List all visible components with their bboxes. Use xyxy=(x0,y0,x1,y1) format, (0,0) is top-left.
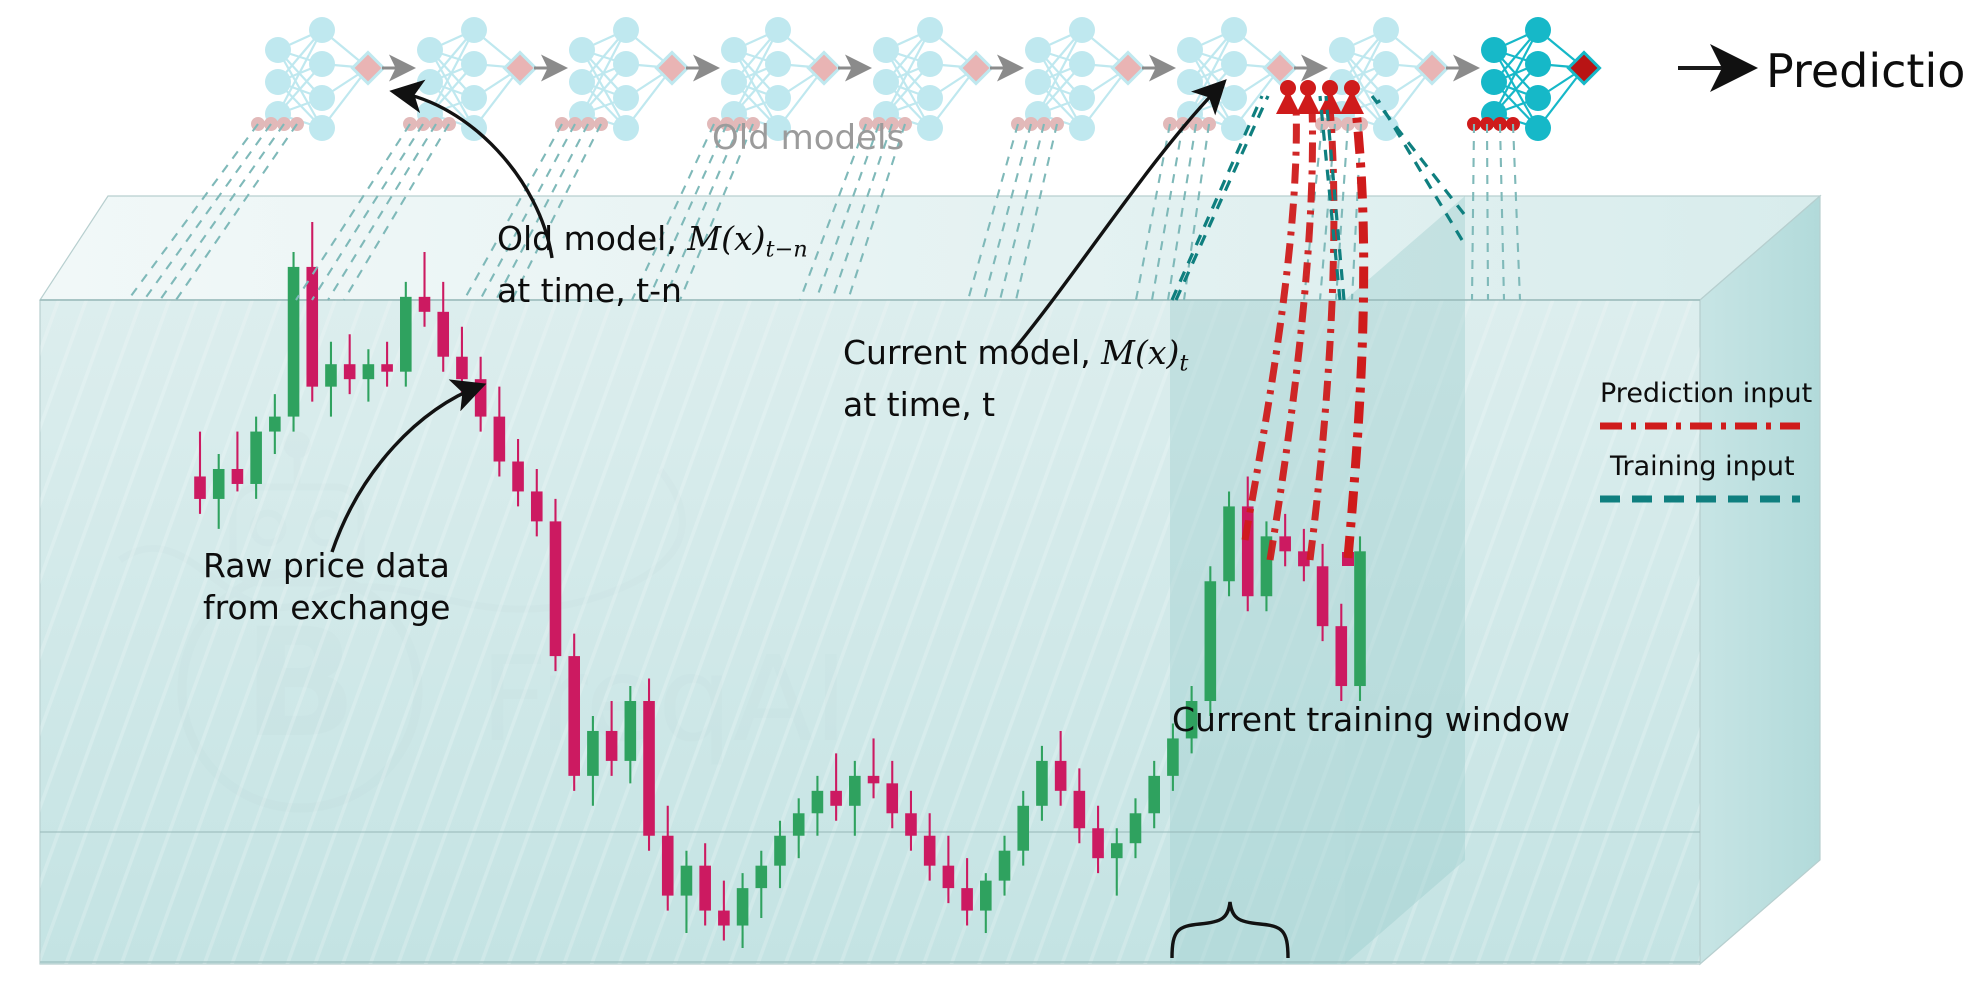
candle-body xyxy=(1036,761,1048,806)
network-node xyxy=(1373,85,1399,111)
candle-body xyxy=(1317,566,1329,626)
network-node xyxy=(873,37,899,63)
network-node xyxy=(873,69,899,95)
training-window-label: Current training window xyxy=(1172,700,1570,739)
network-output-node xyxy=(1416,52,1447,83)
network-output-node xyxy=(1568,52,1599,83)
candle-body xyxy=(269,417,281,432)
network-node xyxy=(1221,51,1247,77)
current-model-subscript: t xyxy=(1179,350,1188,376)
network-node xyxy=(1525,85,1551,111)
network-node xyxy=(1069,17,1095,43)
network-output-node xyxy=(960,52,991,83)
network-node xyxy=(309,51,335,77)
network-node xyxy=(461,85,487,111)
candle-body xyxy=(718,911,730,926)
candle-body xyxy=(456,357,468,379)
candle-body xyxy=(1354,551,1366,686)
network-node xyxy=(1069,85,1095,111)
candle-body xyxy=(774,836,786,866)
candle-body xyxy=(363,364,375,379)
candle-body xyxy=(1148,776,1160,813)
old-model-formula: M(x) xyxy=(687,219,765,258)
network-node xyxy=(1329,37,1355,63)
candle-body xyxy=(961,888,973,910)
candle-body xyxy=(1017,806,1029,851)
network-node xyxy=(917,17,943,43)
candle-body xyxy=(924,836,936,866)
network-node xyxy=(417,69,443,95)
candle-body xyxy=(1130,813,1142,843)
candle-body xyxy=(550,521,562,656)
candle-body xyxy=(381,364,393,371)
network-output-node xyxy=(1112,52,1143,83)
current-model-time: at time, t xyxy=(843,384,1188,426)
candle-body xyxy=(1205,581,1217,701)
candle-body xyxy=(868,776,880,783)
candle-body xyxy=(213,469,225,499)
raw-data-annotation: Raw price data from exchange xyxy=(203,545,450,629)
network-node xyxy=(1177,69,1203,95)
candle-body xyxy=(232,469,244,484)
network-output-node xyxy=(352,52,383,83)
old-model-text: Old model, xyxy=(497,219,687,258)
candle-body xyxy=(699,866,711,911)
candle-body xyxy=(999,851,1011,881)
candle-body xyxy=(662,836,674,896)
candle-body xyxy=(400,297,412,372)
current-model-annotation: Current model, M(x)t at time, t xyxy=(843,332,1188,426)
prediction-label: Prediction xyxy=(1766,44,1966,98)
candle-body xyxy=(1242,506,1254,596)
candle-body xyxy=(943,866,955,888)
network-output-node xyxy=(1264,52,1295,83)
current-model-formula: M(x) xyxy=(1101,333,1179,372)
candle-body xyxy=(194,476,206,498)
candle-body xyxy=(905,813,917,835)
network-node xyxy=(265,37,291,63)
network-node xyxy=(1177,37,1203,63)
raw-data-line-2: from exchange xyxy=(203,587,450,629)
legend-label-prediction-input: Prediction input xyxy=(1600,378,1812,409)
candle-body xyxy=(643,701,655,836)
network-output-node xyxy=(656,52,687,83)
network-node xyxy=(1025,37,1051,63)
network-node xyxy=(917,85,943,111)
network-node xyxy=(309,115,335,141)
candle-body xyxy=(1279,536,1291,551)
network-node xyxy=(461,51,487,77)
candle-body xyxy=(1092,828,1104,858)
network-node xyxy=(1373,51,1399,77)
legend-label-training-input: Training input xyxy=(1610,451,1822,482)
candle-body xyxy=(306,267,318,387)
candle-body xyxy=(475,379,487,416)
candle-body xyxy=(587,731,599,776)
candle-body xyxy=(512,462,524,492)
network-node xyxy=(1525,51,1551,77)
network-node xyxy=(1221,85,1247,111)
candle-body xyxy=(1111,843,1123,858)
network-node xyxy=(613,17,639,43)
network-node xyxy=(1481,37,1507,63)
network-node xyxy=(765,17,791,43)
candle-body xyxy=(1223,506,1235,581)
network-node xyxy=(1221,17,1247,43)
network-node xyxy=(1025,69,1051,95)
network-node xyxy=(721,37,747,63)
network-node xyxy=(1069,115,1095,141)
candle-body xyxy=(1335,626,1347,686)
network-node xyxy=(1481,69,1507,95)
candle-body xyxy=(344,364,356,379)
network-node xyxy=(1525,115,1551,141)
network-node xyxy=(1221,115,1247,141)
candle-body xyxy=(1055,761,1067,791)
network-node xyxy=(1373,17,1399,43)
network-node xyxy=(613,115,639,141)
candle-body xyxy=(1074,791,1086,828)
candle-body xyxy=(325,364,337,386)
old-model-subscript: t−n xyxy=(765,236,807,262)
candle-body xyxy=(681,866,693,896)
old-model-annotation: Old model, M(x)t−n at time, t-n xyxy=(497,218,808,312)
network-node xyxy=(265,69,291,95)
candle-body xyxy=(812,791,824,813)
candle-body xyxy=(793,813,805,835)
old-model-time: at time, t-n xyxy=(497,270,808,312)
candle-body xyxy=(849,776,861,806)
network-node xyxy=(569,69,595,95)
candle-body xyxy=(830,791,842,806)
network-node xyxy=(417,37,443,63)
network-node xyxy=(765,85,791,111)
candle-body xyxy=(606,731,618,761)
legend: Prediction input Training input xyxy=(1600,378,1812,494)
network-node xyxy=(721,69,747,95)
candle-body xyxy=(250,432,262,484)
network-node xyxy=(613,85,639,111)
diagram-canvas: B FreqAI xyxy=(0,0,1966,981)
network-node xyxy=(765,51,791,77)
candle-body xyxy=(886,783,898,813)
candle-body xyxy=(980,881,992,911)
network-node xyxy=(569,37,595,63)
candle-body xyxy=(737,888,749,925)
network-node xyxy=(1069,51,1095,77)
network-node xyxy=(309,17,335,43)
candle-body xyxy=(1167,738,1179,775)
candle-body xyxy=(419,297,431,312)
current-model-text: Current model, xyxy=(843,333,1101,372)
candle-body xyxy=(568,656,580,776)
candle-body xyxy=(494,417,506,462)
network-node xyxy=(309,85,335,111)
candle-body xyxy=(755,866,767,888)
old-models-label: Old models xyxy=(712,118,904,158)
candle-body xyxy=(531,491,543,521)
network-output-node xyxy=(504,52,535,83)
candle-body xyxy=(625,701,637,761)
network-node xyxy=(461,17,487,43)
raw-data-line-1: Raw price data xyxy=(203,545,450,587)
candle-body xyxy=(288,267,300,417)
candle-body xyxy=(437,312,449,357)
network-node xyxy=(613,51,639,77)
network-node xyxy=(917,51,943,77)
network-node xyxy=(1525,17,1551,43)
network-node xyxy=(917,115,943,141)
network-output-node xyxy=(808,52,839,83)
